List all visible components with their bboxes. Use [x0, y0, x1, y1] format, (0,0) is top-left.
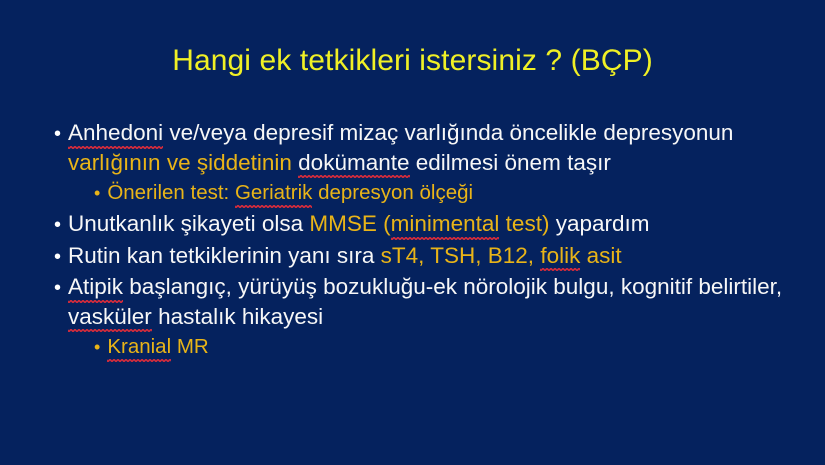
text-span: Rutin kan tetkiklerinin yanı sıra [68, 243, 381, 268]
misspelled-word: Geriatrik [235, 179, 312, 207]
text-span: sT4, TSH, B12, [381, 243, 541, 268]
text-span: ve/veya depresif mizaç varlığında önceli… [163, 120, 733, 145]
text-span: yapardım [549, 211, 649, 236]
text-span: hastalık hikayesi [152, 304, 323, 329]
bullet-text: Kranial MR [107, 333, 208, 361]
text-span: edilmesi önem taşır [410, 150, 611, 175]
bullet-item: •Anhedoni ve/veya depresif mizaç varlığı… [54, 118, 814, 177]
slide-body: •Anhedoni ve/veya depresif mizaç varlığı… [54, 118, 814, 363]
bullet-marker-icon: • [54, 272, 61, 298]
bullet-item: •Önerilen test: Geriatrik depresyon ölçe… [54, 179, 814, 207]
page-title: Hangi ek tetkikleri istersiniz ? (BÇP) [0, 44, 825, 77]
text-span: test) [499, 211, 549, 236]
misspelled-word: folik [540, 241, 580, 271]
bullet-marker-icon: • [94, 179, 100, 202]
text-span: depresyon ölçeği [312, 181, 473, 204]
bullet-text: Önerilen test: Geriatrik depresyon ölçeğ… [107, 179, 473, 207]
bullet-text: Atipik başlangıç, yürüyüş bozukluğu-ek n… [68, 272, 814, 331]
text-span: başlangıç, yürüyüş bozukluğu-ek nöroloji… [123, 274, 782, 299]
text-span: varlığının ve şiddetinin [68, 150, 292, 175]
bullet-marker-icon: • [54, 118, 61, 144]
text-span: MMSE ( [309, 211, 390, 236]
bullet-item: •Rutin kan tetkiklerinin yanı sıra sT4, … [54, 241, 814, 271]
misspelled-word: Kranial [107, 333, 171, 361]
misspelled-word: Atipik [68, 272, 123, 302]
text-span: asit [580, 243, 621, 268]
slide-canvas: Hangi ek tetkikleri istersiniz ? (BÇP) •… [0, 0, 825, 465]
bullet-text: Rutin kan tetkiklerinin yanı sıra sT4, T… [68, 241, 622, 271]
misspelled-word: Anhedoni [68, 118, 163, 148]
bullet-text: Unutkanlık şikayeti olsa MMSE (minimenta… [68, 209, 649, 239]
misspelled-word: vasküler [68, 302, 152, 332]
misspelled-word: dokümante [298, 148, 409, 178]
bullet-marker-icon: • [54, 241, 61, 267]
text-span: MR [171, 335, 209, 358]
bullet-item: •Kranial MR [54, 333, 814, 361]
text-span: Unutkanlık şikayeti olsa [68, 211, 309, 236]
bullet-item: •Atipik başlangıç, yürüyüş bozukluğu-ek … [54, 272, 814, 331]
bullet-marker-icon: • [94, 333, 100, 356]
bullet-marker-icon: • [54, 209, 61, 235]
bullet-text: Anhedoni ve/veya depresif mizaç varlığın… [68, 118, 814, 177]
bullet-item: •Unutkanlık şikayeti olsa MMSE (miniment… [54, 209, 814, 239]
misspelled-word: minimental [391, 209, 500, 239]
text-span: Önerilen test: [107, 181, 235, 204]
